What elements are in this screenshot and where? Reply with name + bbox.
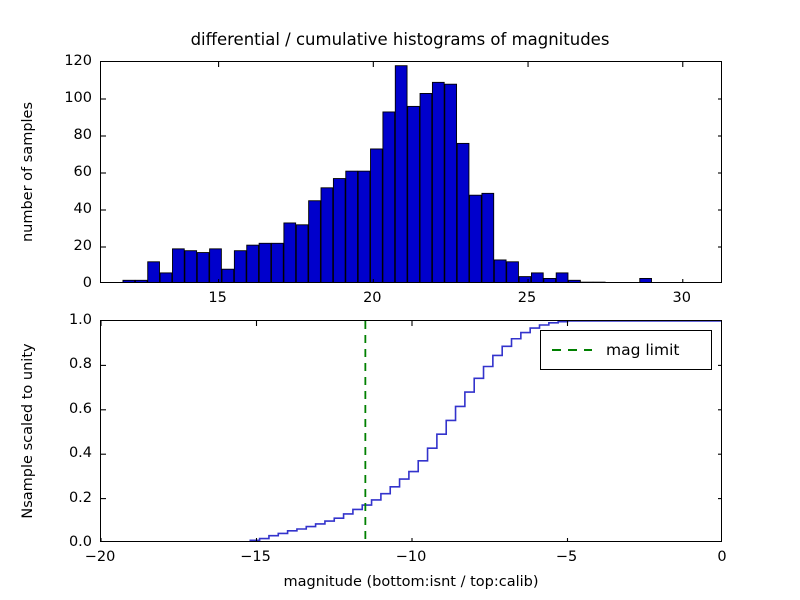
top-plot-area [101, 62, 721, 282]
histogram-bar [507, 262, 519, 282]
matplotlib-figure: differential / cumulative histograms of … [0, 0, 800, 600]
histogram-bar [197, 253, 209, 282]
histogram-bar [160, 273, 172, 282]
histogram-bar [383, 112, 395, 282]
histogram-bar [445, 84, 457, 282]
histogram-bar [358, 171, 370, 282]
histogram-bar [556, 273, 568, 282]
bottom-y-tick-label: 0.0 [34, 534, 92, 550]
histogram-bar [309, 201, 321, 282]
bottom-y-tick-label: 0.6 [34, 401, 92, 417]
legend-label-mag-limit: mag limit [606, 341, 679, 359]
histogram-bar [172, 249, 184, 282]
bottom-x-tick-label: 0 [717, 549, 726, 565]
histogram-bar [470, 195, 482, 282]
top-y-axis-label: number of samples [20, 102, 36, 242]
histogram-bar [432, 82, 444, 282]
histogram-bar [148, 262, 160, 282]
top-y-tick-label: 80 [34, 127, 92, 143]
histogram-bar [210, 249, 222, 282]
histogram-bar [457, 143, 469, 282]
histogram-bar [296, 225, 308, 282]
histogram-bar [420, 93, 432, 282]
histogram-bar [333, 179, 345, 282]
histogram-bar [482, 193, 494, 282]
legend: mag limit [540, 330, 712, 370]
top-axes-histogram [100, 61, 722, 283]
histogram-bar [321, 188, 333, 282]
figure-title: differential / cumulative histograms of … [0, 30, 800, 49]
bottom-x-tick-label: −5 [556, 549, 577, 565]
histogram-bar [346, 171, 358, 282]
histogram-bar [259, 243, 271, 282]
histogram-bar [272, 243, 284, 282]
top-y-tick-label: 0 [34, 275, 92, 291]
histogram-bar [408, 106, 420, 282]
x-axis-label: magnitude (bottom:isnt / top:calib) [100, 574, 722, 590]
histogram-bar [569, 280, 581, 282]
histogram-bar [284, 223, 296, 282]
bottom-y-tick-label: 0.4 [34, 445, 92, 461]
top-y-tick-label: 100 [34, 90, 92, 106]
histogram-bar [371, 149, 383, 282]
top-x-tick-label: 20 [363, 290, 381, 306]
histogram-bar [640, 278, 652, 282]
bottom-x-tick-label: −10 [396, 549, 427, 565]
histogram-bar [531, 273, 543, 282]
top-y-tick-label: 60 [34, 164, 92, 180]
top-y-tick-label: 40 [34, 201, 92, 217]
bottom-y-tick-label: 1.0 [34, 312, 92, 328]
bottom-x-tick-label: −20 [85, 549, 116, 565]
histogram-bar [395, 66, 407, 282]
top-x-tick-label: 30 [673, 290, 691, 306]
histogram-bar [222, 269, 234, 282]
top-y-tick-label: 20 [34, 238, 92, 254]
histogram-bar [519, 277, 531, 282]
top-x-tick-label: 25 [518, 290, 536, 306]
top-x-tick-label: 15 [208, 290, 226, 306]
histogram-bars-svg [101, 62, 721, 282]
bottom-x-tick-label: −15 [240, 549, 271, 565]
bottom-y-axis-label: Nsample scaled to unity [20, 343, 36, 518]
histogram-bar [234, 251, 246, 282]
histogram-bar [247, 245, 259, 282]
histogram-bar [185, 251, 197, 282]
mag-limit-line-icon [550, 343, 594, 357]
top-y-tick-label: 120 [34, 53, 92, 69]
histogram-bar [544, 278, 556, 282]
histogram-bar [135, 280, 147, 282]
histogram-bar [494, 260, 506, 282]
histogram-bar [123, 280, 135, 282]
bottom-y-tick-label: 0.8 [34, 356, 92, 372]
bottom-y-tick-label: 0.2 [34, 490, 92, 506]
